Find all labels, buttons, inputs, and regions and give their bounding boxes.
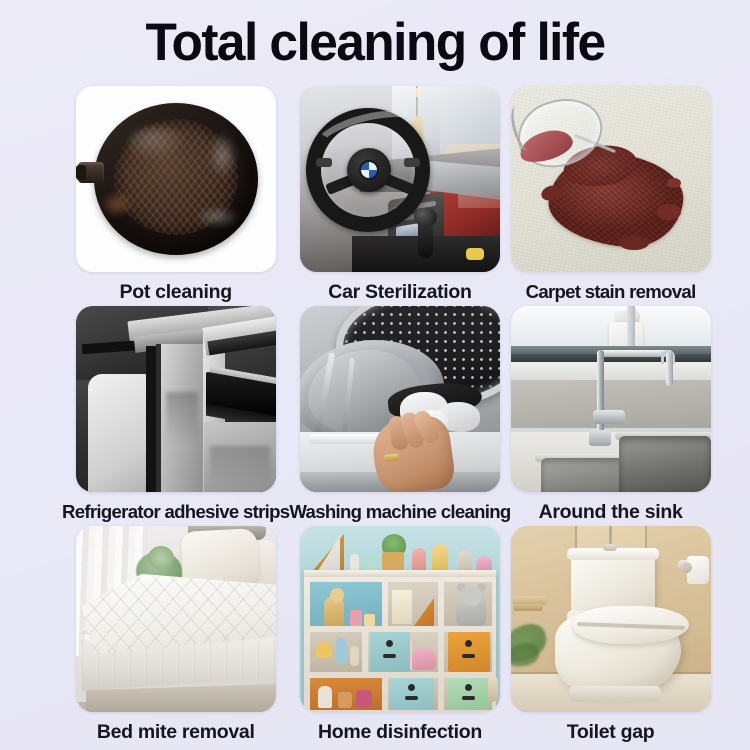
fridge-lower-grime (210, 446, 270, 486)
grid-item-toilet-gap[interactable]: Toilet gap (511, 526, 711, 746)
toy-block-cream (364, 614, 375, 626)
toilet-tank (571, 552, 655, 614)
washing-machine-image[interactable] (300, 306, 500, 492)
box-blue-label-slot (405, 696, 418, 700)
shelf-lamp (316, 642, 332, 658)
sink-basin-left (541, 458, 627, 492)
box-teal-label-slot (383, 654, 396, 658)
shelf-figure-red (356, 690, 372, 708)
caption-washing-machine: Washing machine cleaning (289, 501, 510, 523)
home-disinfection-image[interactable] (300, 526, 500, 712)
faucet-spout (666, 352, 673, 386)
box-blue-handle-hole (408, 684, 415, 691)
shelf-vase-blue (336, 638, 347, 664)
box-teal-handle-hole (386, 640, 393, 647)
faucet-handle[interactable] (593, 410, 625, 424)
storage-box-green (448, 678, 490, 710)
box-orange-label-slot (462, 654, 475, 658)
refrigerator-strips-image[interactable] (76, 306, 276, 492)
fridge-door-panel (88, 374, 148, 492)
pot-burn-mark (100, 190, 134, 218)
pot-residue-mark (196, 206, 240, 228)
caption-carpet-stain-removal: Carpet stain removal (526, 281, 696, 303)
shelf-unit-top (304, 570, 496, 577)
caption-bed-mite-removal: Bed mite removal (97, 721, 255, 744)
toy-bear-head (460, 586, 482, 606)
faucet-neck (597, 350, 604, 442)
shelf-book (392, 590, 412, 624)
grid-item-around-the-sink[interactable]: Around the sink (511, 306, 711, 526)
pot-grease-mark (208, 132, 238, 178)
caption-home-disinfection: Home disinfection (318, 721, 482, 744)
car-gear-knob (414, 208, 437, 226)
grid-item-refrigerator-strips[interactable]: Refrigerator adhesive strips (62, 306, 289, 526)
caption-car-sterilization: Car Sterilization (328, 281, 471, 304)
toilet-base-foot (569, 686, 661, 702)
box-green-handle-hole (465, 684, 472, 691)
box-green-label-slot (462, 696, 475, 700)
fridge-gasket-channel (146, 346, 156, 492)
toilet-gap-image[interactable] (511, 526, 711, 712)
car-yellow-object (466, 248, 484, 260)
car-wheel-button-right (404, 158, 420, 167)
carpet-stain-image[interactable] (511, 86, 711, 272)
caption-refrigerator-strips: Refrigerator adhesive strips (62, 501, 289, 523)
storage-box-orange (448, 632, 490, 672)
car-ornament-bead (413, 88, 422, 97)
car-sterilization-image[interactable] (300, 86, 500, 272)
page-title: Total cleaning of life (11, 12, 739, 74)
toy-pig (412, 648, 436, 670)
storage-box-teal (370, 632, 410, 672)
pot-handle-tip (76, 165, 86, 180)
shelf-side-hook (488, 676, 498, 702)
bathroom-towel-rail-lower (513, 604, 543, 611)
wine-splash-right (657, 204, 681, 220)
faucet-base (589, 430, 611, 446)
wine-splash-small (667, 178, 681, 188)
shelf-vase-cream (350, 646, 359, 666)
shelf-figure-white (318, 686, 332, 708)
toilet-paper-holder-cap (681, 562, 692, 573)
grid-item-pot-cleaning[interactable]: Pot cleaning (62, 86, 289, 306)
feature-grid: Pot cleaning (0, 86, 750, 746)
toilet-flush-button[interactable] (603, 544, 617, 551)
pot-highlight (128, 126, 186, 160)
caption-around-the-sink: Around the sink (539, 501, 683, 524)
fridge-frame-grime (166, 392, 198, 456)
toy-dinosaur-head (330, 588, 344, 602)
sink-basin-right (619, 436, 711, 492)
box-orange-handle-hole (465, 640, 472, 647)
grid-item-bed-mite-removal[interactable]: Bed mite removal (62, 526, 289, 746)
grid-item-car-sterilization[interactable]: Car Sterilization (289, 86, 510, 306)
car-brand-logo-icon (359, 160, 379, 180)
grid-item-washing-machine[interactable]: Washing machine cleaning (289, 306, 510, 526)
bed-mite-removal-image[interactable] (76, 526, 276, 712)
storage-box-blue (390, 678, 434, 710)
wine-splash-bottom (619, 236, 649, 250)
around-the-sink-image[interactable] (511, 306, 711, 492)
shelf-figure-orange (338, 692, 352, 708)
caption-pot-cleaning: Pot cleaning (120, 281, 232, 304)
pot-cleaning-image[interactable] (76, 86, 276, 272)
grid-item-carpet-stain-removal[interactable]: Carpet stain removal (511, 86, 711, 306)
grid-item-home-disinfection[interactable]: Home disinfection (289, 526, 510, 746)
car-wheel-button-left (316, 158, 332, 167)
toy-block-pink (350, 610, 362, 626)
bedroom-plant-top (148, 546, 174, 570)
caption-toilet-gap: Toilet gap (567, 721, 655, 744)
